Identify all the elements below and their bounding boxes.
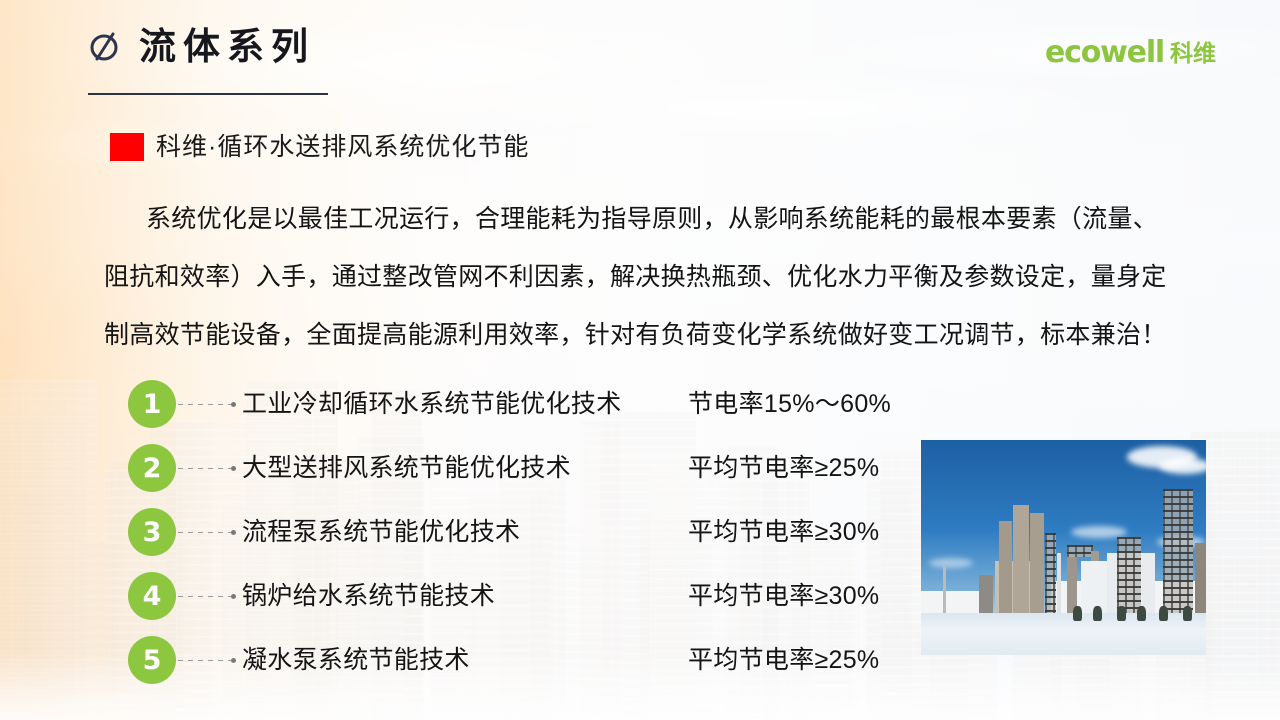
list-item-rate: 平均节电率≥30%: [688, 584, 879, 609]
title-row: 流体系列: [88, 28, 315, 65]
photo-tower: [1195, 543, 1206, 613]
photo-cloud: [929, 558, 973, 568]
photo-lattice-tower: [1163, 489, 1193, 613]
photo-pipe: [1057, 553, 1061, 613]
title-underline: [88, 93, 328, 95]
industrial-plant-photo: [921, 440, 1206, 655]
list-item-number: 4: [128, 572, 176, 620]
list-item-rate: 平均节电率≥25%: [688, 456, 879, 481]
photo-shrub: [1159, 606, 1168, 621]
photo-building: [921, 591, 981, 613]
connector-line-icon: [178, 596, 234, 597]
list-item-label: 工业冷却循环水系统节能优化技术: [242, 392, 622, 417]
paragraph-line: 系统优化是以最佳工况运行，合理能耗为指导原则，从影响系统能耗的最根本要素（流量、: [104, 190, 1212, 248]
photo-tower: [1013, 505, 1029, 613]
paragraph-line: 阻抗和效率）入手，通过整改管网不利因素，解决换热瓶颈、优化水力平衡及参数设定，量…: [104, 248, 1212, 306]
circle-slash-icon: [88, 30, 122, 64]
list-item-content: 凝水泵系统节能技术 平均节电率≥25%: [242, 648, 918, 673]
list-item[interactable]: 3 流程泵系统节能优化技术 平均节电率≥30%: [128, 500, 918, 564]
list-item-label: 流程泵系统节能优化技术: [242, 520, 520, 545]
list-item-content: 锅炉给水系统节能技术 平均节电率≥30%: [242, 584, 918, 609]
photo-building: [979, 575, 993, 613]
red-square-bullet-icon: [110, 133, 144, 161]
list-item-content: 大型送排风系统节能优化技术 平均节电率≥25%: [242, 456, 918, 481]
photo-lattice-tower: [1117, 537, 1141, 613]
logo-chinese-name: 科维: [1170, 42, 1216, 65]
photo-lattice-tower: [1045, 533, 1056, 613]
photo-shrub: [1073, 606, 1082, 621]
list-item-label: 锅炉给水系统节能技术: [242, 584, 495, 609]
photo-tower: [1030, 513, 1044, 613]
connector-line-icon: [178, 660, 234, 661]
photo-shrub: [1137, 606, 1146, 621]
list-item-rate: 平均节电率≥25%: [688, 648, 879, 673]
connector-line-icon: [178, 532, 234, 533]
presentation-slide: 流体系列 ecowell 科维 科维·循环水送排风系统优化节能 系统优化是以最佳…: [0, 0, 1280, 720]
page-title: 流体系列: [139, 28, 315, 65]
paragraph-line: 制高效节能设备，全面提高能源利用效率，针对有负荷变化学系统做好变工况调节，标本兼…: [104, 306, 1212, 364]
list-item[interactable]: 1 工业冷却循环水系统节能优化技术 节电率15%～60%: [128, 372, 918, 436]
photo-cloud: [1159, 458, 1206, 474]
list-item-rate: 节电率15%～60%: [688, 392, 891, 417]
connector-line-icon: [178, 404, 234, 405]
connector-line-icon: [178, 468, 234, 469]
photo-lattice-tower: [1067, 545, 1093, 557]
list-item-content: 流程泵系统节能优化技术 平均节电率≥30%: [242, 520, 918, 545]
list-item-number: 2: [128, 444, 176, 492]
list-item[interactable]: 2 大型送排风系统节能优化技术 平均节电率≥25%: [128, 436, 918, 500]
list-item-number: 3: [128, 508, 176, 556]
list-item[interactable]: 5 凝水泵系统节能技术 平均节电率≥25%: [128, 628, 918, 692]
slide-header: 流体系列 ecowell 科维: [0, 0, 1280, 108]
list-item[interactable]: 4 锅炉给水系统节能技术 平均节电率≥30%: [128, 564, 918, 628]
photo-shrub: [1093, 606, 1102, 621]
section-heading: 科维·循环水送排风系统优化节能: [110, 133, 529, 161]
photo-pipe: [943, 565, 946, 613]
photo-tower: [999, 521, 1012, 613]
list-item-content: 工业冷却循环水系统节能优化技术 节电率15%～60%: [242, 392, 918, 417]
photo-shrub: [1183, 606, 1192, 621]
brand-logo: ecowell 科维: [1045, 38, 1216, 68]
body-paragraph: 系统优化是以最佳工况运行，合理能耗为指导原则，从影响系统能耗的最根本要素（流量、…: [104, 190, 1212, 364]
list-item-number: 1: [128, 380, 176, 428]
section-title: 科维·循环水送排风系统优化节能: [156, 135, 529, 160]
logo-wordmark: ecowell: [1045, 38, 1164, 68]
list-item-label: 大型送排风系统节能优化技术: [242, 456, 571, 481]
photo-building: [1067, 555, 1077, 613]
photo-shrub: [1117, 606, 1126, 621]
list-item-label: 凝水泵系统节能技术: [242, 648, 470, 673]
technology-list: 1 工业冷却循环水系统节能优化技术 节电率15%～60% 2 大型送排风系统节能…: [128, 372, 918, 692]
list-item-rate: 平均节电率≥30%: [688, 520, 879, 545]
list-item-number: 5: [128, 636, 176, 684]
